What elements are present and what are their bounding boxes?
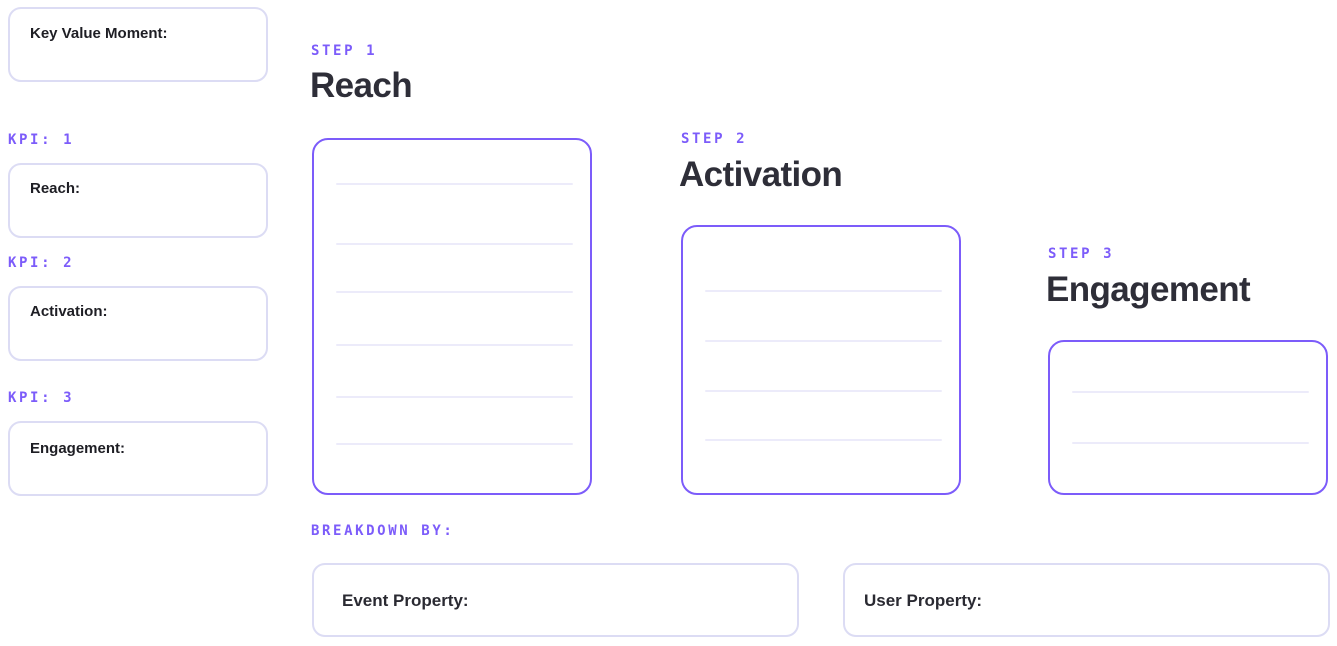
card-rule <box>1072 442 1309 444</box>
kpi-1-box[interactable] <box>8 163 268 238</box>
step-1-card[interactable] <box>312 138 592 495</box>
breakdown-by-eyebrow: BREAKDOWN BY: <box>311 524 454 538</box>
card-rule <box>336 396 573 398</box>
step-3-card[interactable] <box>1048 340 1328 495</box>
card-rule <box>336 443 573 445</box>
step-1-title: Reach <box>310 68 412 103</box>
card-rule <box>705 340 942 342</box>
step-2-eyebrow: STEP 2 <box>681 132 747 146</box>
user-property-label: User Property: <box>864 592 982 609</box>
card-rule <box>1072 391 1309 393</box>
step-1-eyebrow: STEP 1 <box>311 44 377 58</box>
card-rule <box>336 243 573 245</box>
kpi-3-eyebrow: KPI: 3 <box>8 391 74 405</box>
kpi-1-eyebrow: KPI: 1 <box>8 133 74 147</box>
card-rule <box>336 344 573 346</box>
kpi-2-box[interactable] <box>8 286 268 361</box>
card-rule <box>705 439 942 441</box>
kpi-3-label: Engagement: <box>30 441 125 456</box>
event-property-label: Event Property: <box>342 592 469 609</box>
step-3-title: Engagement <box>1046 272 1250 307</box>
step-2-card[interactable] <box>681 225 961 495</box>
kpi-2-label: Activation: <box>30 304 108 319</box>
card-rule <box>336 291 573 293</box>
card-rule <box>705 290 942 292</box>
step-2-title: Activation <box>679 157 842 192</box>
kpi-1-label: Reach: <box>30 181 80 196</box>
kpi-3-box[interactable] <box>8 421 268 496</box>
card-rule <box>336 183 573 185</box>
kpi-2-eyebrow: KPI: 2 <box>8 256 74 270</box>
key-value-moment-label: Key Value Moment: <box>30 26 168 41</box>
key-value-moment-box[interactable] <box>8 7 268 82</box>
step-3-eyebrow: STEP 3 <box>1048 247 1114 261</box>
funnel-worksheet-canvas: Key Value Moment: KPI: 1 Reach: KPI: 2 A… <box>0 0 1337 646</box>
card-rule <box>705 390 942 392</box>
